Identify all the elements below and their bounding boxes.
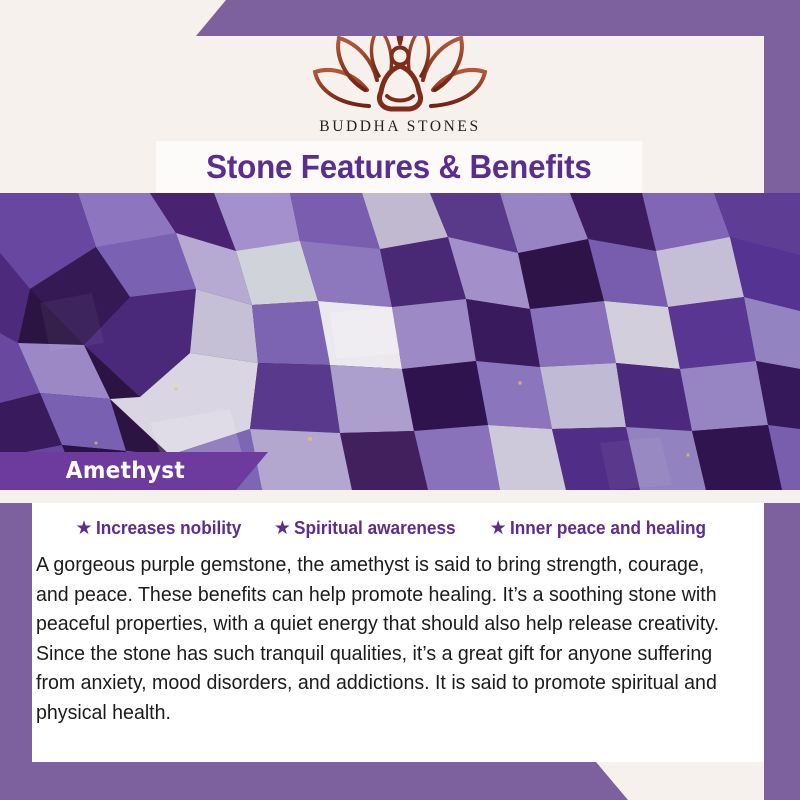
stone-name-bar: Amethyst — [0, 452, 268, 490]
stone-name: Amethyst — [66, 458, 185, 484]
feature-item: ★ Increases nobility — [76, 517, 252, 539]
stone-info-poster: BUDDHA STONES — [0, 0, 800, 800]
page-title-banner: Stone Features & Benefits — [156, 141, 642, 193]
brand-logo: BUDDHA STONES — [0, 20, 800, 136]
feature-item: ★ Inner peace and healing — [490, 517, 721, 539]
feature-item: ★ Spiritual awareness — [274, 517, 468, 539]
feature-label: Spiritual awareness — [294, 517, 456, 539]
crystal-cluster-illustration — [0, 193, 800, 490]
feature-list: ★ Increases nobility ★ Spiritual awarene… — [32, 503, 764, 539]
amethyst-photo — [0, 193, 800, 490]
frame-bottom-bar — [0, 762, 800, 800]
feature-label: Increases nobility — [96, 517, 241, 539]
content-area: ★ Increases nobility ★ Spiritual awarene… — [32, 503, 764, 762]
stone-description: A gorgeous purple gemstone, the amethyst… — [36, 550, 720, 727]
star-icon: ★ — [76, 519, 93, 538]
star-icon: ★ — [490, 519, 507, 538]
lotus-meditation-icon — [307, 20, 493, 116]
cream-divider-strip — [0, 490, 800, 503]
star-icon: ★ — [274, 519, 291, 538]
brand-name: BUDDHA STONES — [0, 118, 800, 136]
feature-label: Inner peace and healing — [510, 517, 706, 539]
page-title: Stone Features & Benefits — [206, 148, 591, 186]
